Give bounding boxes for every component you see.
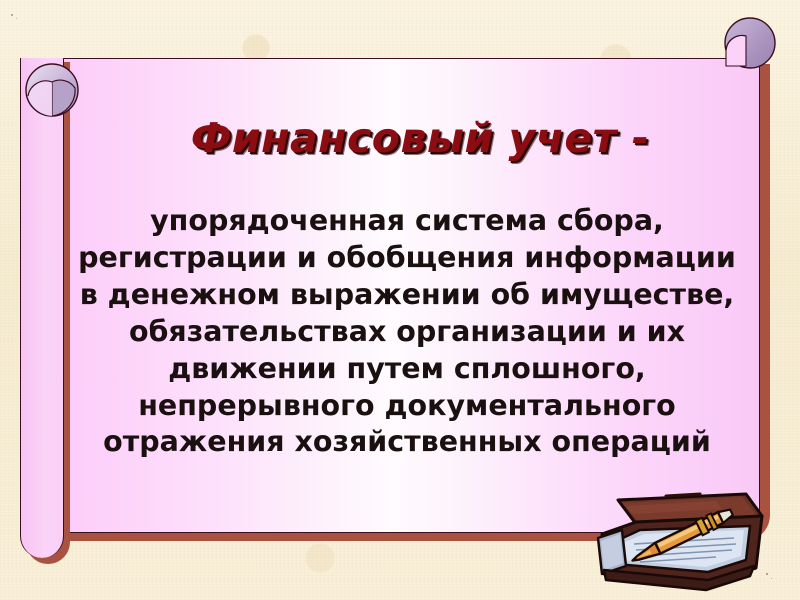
scroll-curl-icon bbox=[722, 16, 780, 74]
paper-speck bbox=[771, 578, 772, 579]
body-line: движении путем сплошного, bbox=[62, 351, 752, 388]
paper-speck bbox=[16, 18, 17, 19]
briefcase-clipart-svg bbox=[596, 482, 786, 592]
body-line: отражения хозяйственных операций bbox=[62, 424, 752, 461]
scroll-left-roll bbox=[20, 58, 64, 558]
body-line: в денежном выражении об имуществе, bbox=[62, 277, 752, 314]
slide-content: Финансовый учет - упорядоченная система … bbox=[62, 58, 762, 533]
briefcase-with-pen-icon bbox=[596, 482, 786, 592]
body-line: непрерывного документального bbox=[62, 388, 752, 425]
scroll-curl-top-left bbox=[22, 62, 82, 122]
page-title: Финансовый учет - bbox=[191, 118, 649, 159]
paper-speck bbox=[766, 573, 768, 575]
body-line: обязательствах организации и их bbox=[62, 314, 752, 351]
paper-speck bbox=[11, 14, 13, 16]
scroll-curl-icon bbox=[22, 62, 82, 122]
scroll-curl-top-right bbox=[722, 16, 780, 74]
slide-body-text: упорядоченная система сбора, регистрации… bbox=[62, 203, 752, 461]
body-line: упорядоченная система сбора, bbox=[62, 203, 752, 240]
body-line: регистрации и обобщения информации bbox=[62, 240, 752, 277]
